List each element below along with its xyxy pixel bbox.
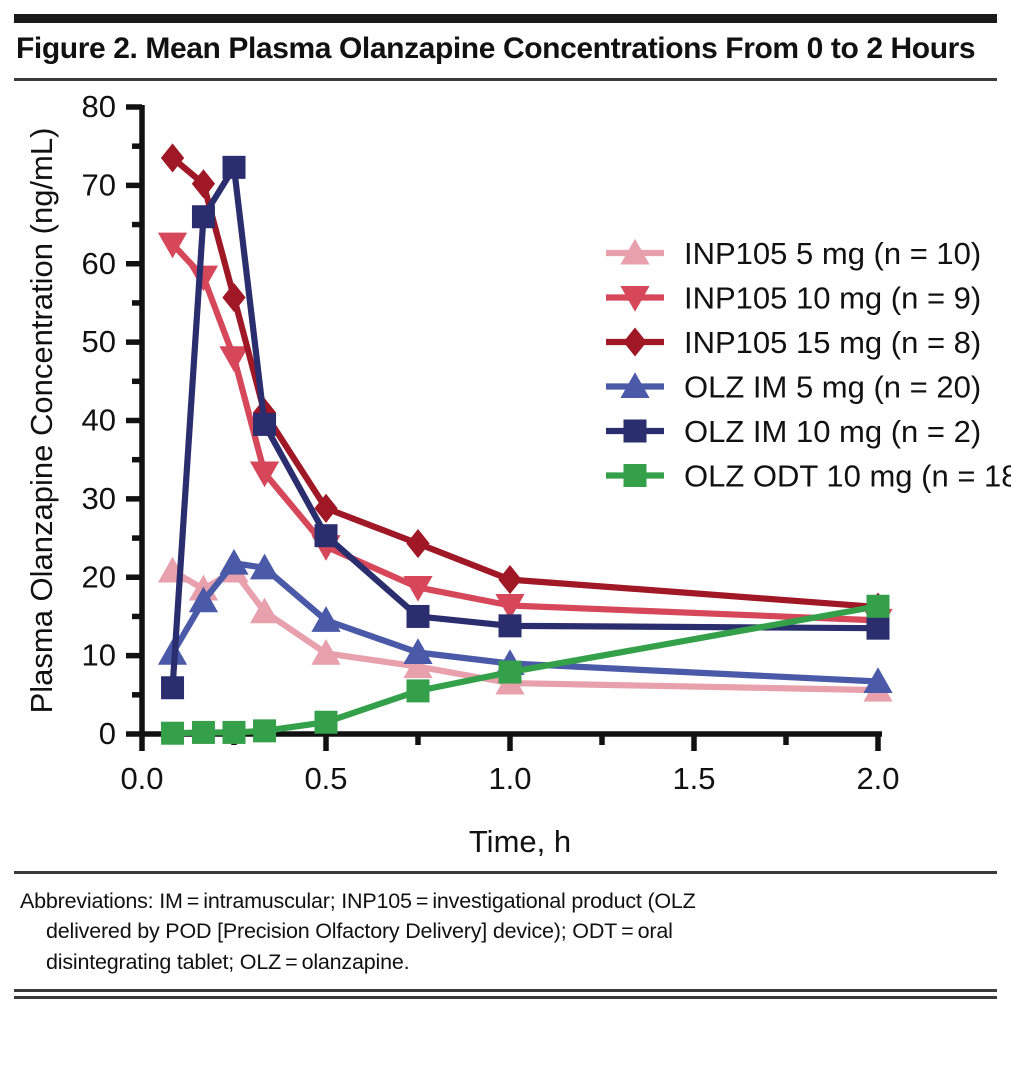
- footnote-line-3: disintegrating tablet; OLZ = olanzapine.: [20, 947, 993, 978]
- legend-item-4[interactable]: OLZ IM 10 mg (n = 2): [606, 414, 981, 449]
- data-point-marker: [407, 529, 429, 557]
- x-tick-label: 2.0: [856, 761, 899, 796]
- legend-label: INP105 15 mg (n = 8): [684, 325, 981, 360]
- y-tick-label: 70: [82, 167, 116, 202]
- chart-svg: 010203040506070800.00.51.01.52.0 INP105 …: [0, 81, 1011, 871]
- y-axis-title: Plasma Olanzapine Concentration (ng/mL): [24, 127, 59, 713]
- data-point-marker: [867, 617, 889, 639]
- data-point-marker: [407, 679, 429, 701]
- data-point-marker: [254, 719, 276, 741]
- data-point-marker: [407, 605, 429, 627]
- y-tick-label: 60: [82, 245, 116, 280]
- y-tick-label: 40: [82, 402, 116, 437]
- data-point-marker: [162, 722, 184, 744]
- data-point-marker: [315, 711, 337, 733]
- data-point-marker: [499, 565, 521, 593]
- x-axis-title: Time, h: [469, 824, 571, 859]
- x-tick-label: 0.5: [304, 761, 347, 796]
- legend-label: OLZ IM 10 mg (n = 2): [684, 414, 981, 449]
- y-tick-label: 20: [82, 559, 116, 594]
- x-tick-label: 1.0: [488, 761, 531, 796]
- data-point-marker: [223, 721, 245, 743]
- data-point-marker: [499, 614, 521, 636]
- top-rule-thick: [14, 14, 997, 23]
- bottom-rule-double: [14, 989, 997, 999]
- legend-marker: [624, 328, 646, 356]
- legend-item-3[interactable]: OLZ IM 5 mg (n = 20): [606, 369, 981, 404]
- footnote-line-1: Abbreviations: IM = intramuscular; INP10…: [20, 886, 993, 917]
- legend-group: INP105 5 mg (n = 10)INP105 10 mg (n = 9)…: [606, 236, 1011, 494]
- data-point-marker: [315, 524, 337, 546]
- x-tick-label: 0.0: [120, 761, 163, 796]
- legend-label: OLZ ODT 10 mg (n = 18): [684, 458, 1011, 493]
- legend-marker: [624, 464, 646, 486]
- y-tick-label: 50: [82, 324, 116, 359]
- plot-area: 010203040506070800.00.51.01.52.0 INP105 …: [0, 81, 1011, 871]
- data-point-marker: [192, 205, 214, 227]
- footnote-line-2: delivered by POD [Precision Olfactory De…: [20, 916, 993, 947]
- figure-footnote: Abbreviations: IM = intramuscular; INP10…: [0, 874, 1011, 990]
- data-point-marker: [162, 676, 184, 698]
- legend-item-5[interactable]: OLZ ODT 10 mg (n = 18): [606, 458, 1011, 493]
- legend-item-1[interactable]: INP105 10 mg (n = 9): [606, 280, 981, 315]
- legend-item-0[interactable]: INP105 5 mg (n = 10): [606, 236, 981, 271]
- legend-item-2[interactable]: INP105 15 mg (n = 8): [606, 325, 981, 360]
- x-tick-label: 1.5: [672, 761, 715, 796]
- data-point-marker: [867, 595, 889, 617]
- legend-label: INP105 5 mg (n = 10): [684, 236, 981, 271]
- data-point-marker: [192, 721, 214, 743]
- data-point-marker: [254, 413, 276, 435]
- data-point-marker: [223, 156, 245, 178]
- figure-title: Figure 2. Mean Plasma Olanzapine Concent…: [0, 23, 1011, 78]
- data-point-marker: [223, 283, 245, 311]
- y-tick-label: 0: [99, 716, 116, 751]
- legend-marker: [624, 420, 646, 442]
- y-tick-label: 80: [82, 89, 116, 124]
- data-point-marker: [190, 266, 218, 290]
- legend-label: OLZ IM 5 mg (n = 20): [684, 369, 981, 404]
- data-point-marker: [220, 346, 248, 370]
- y-tick-label: 30: [82, 480, 116, 515]
- legend-label: INP105 10 mg (n = 9): [684, 280, 981, 315]
- figure-container: Figure 2. Mean Plasma Olanzapine Concent…: [0, 0, 1011, 1068]
- data-point-marker: [499, 661, 521, 683]
- y-tick-label: 10: [82, 637, 116, 672]
